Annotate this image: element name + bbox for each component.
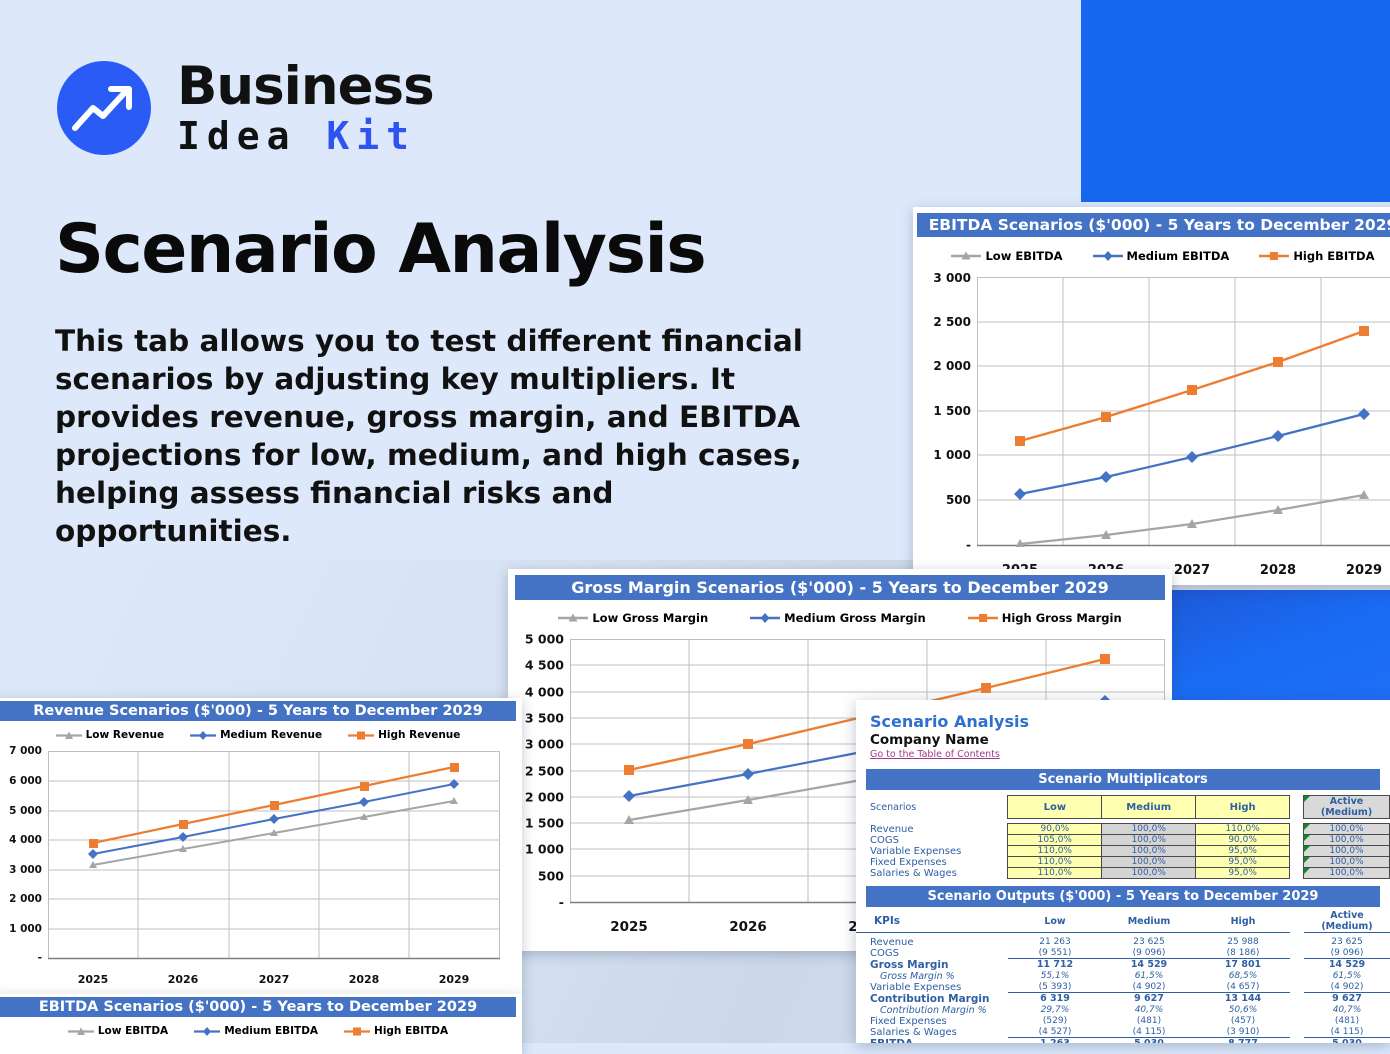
page-title: Scenario Analysis (55, 210, 705, 289)
legend-item-medium: Medium Gross Margin (750, 611, 926, 625)
table-row: Gross Margin 11 712 14 529 17 801 14 529 (856, 959, 1390, 971)
cell-medium[interactable]: 100,0% (1102, 868, 1196, 879)
cell-low[interactable]: 110,0% (1008, 846, 1102, 857)
cell-low: 29,7% (1008, 1005, 1102, 1016)
chart-title-revenue: Revenue Scenarios ($'000) - 5 Years to D… (0, 701, 516, 721)
row-label: Salaries & Wages (856, 1027, 1008, 1038)
cell-high: (4 657) (1196, 982, 1290, 993)
legend-label-high: High EBITDA (1293, 249, 1374, 263)
legend-label-low: Low Gross Margin (592, 611, 708, 625)
spacer-cell (1290, 796, 1304, 819)
cell-high[interactable]: 90,0% (1196, 835, 1290, 846)
row-label: Gross Margin % (856, 971, 1008, 982)
legend-label-medium: Medium Gross Margin (784, 611, 926, 625)
cell-medium: (481) (1102, 1016, 1196, 1027)
multipliers-row-header: Scenarios (856, 796, 1008, 819)
table-row[interactable]: COGS 105,0% 100,0% 90,0% 100,0% (856, 835, 1390, 846)
legend-label-high: High Gross Margin (1002, 611, 1122, 625)
legend-label-high: High Revenue (378, 729, 460, 741)
row-label: COGS (856, 948, 1008, 959)
chart-plot-revenue: -1 0002 000 3 0004 0005 000 6 0007 000 (0, 751, 522, 981)
spacer-cell (1290, 868, 1304, 879)
legend-item-high: High EBITDA (1259, 249, 1374, 263)
row-label: Variable Expenses (856, 846, 1008, 857)
outputs-col-active: Active (Medium) (1304, 910, 1390, 933)
cell-high: 17 801 (1196, 959, 1290, 971)
row-label: Contribution Margin (856, 993, 1008, 1005)
sheet-header: Scenario Analysis Company Name Go to the… (856, 700, 1390, 760)
legend-item-low: Low Revenue (56, 729, 165, 741)
cell-high[interactable]: 95,0% (1196, 857, 1290, 868)
table-row-header: KPIs Low Medium High Active (Medium) (856, 910, 1390, 933)
cell-active: 40,7% (1304, 1005, 1390, 1016)
multipliers-col-high: High (1196, 796, 1290, 819)
table-row[interactable]: Variable Expenses 110,0% 100,0% 95,0% 10… (856, 846, 1390, 857)
spacer-cell (1290, 1005, 1304, 1016)
cell-medium: 14 529 (1102, 959, 1196, 971)
legend-label-medium: Medium EBITDA (1127, 249, 1230, 263)
legend-item-high: High EBITDA (344, 1025, 448, 1037)
multipliers-col-low: Low (1008, 796, 1102, 819)
outputs-col-medium: Medium (1102, 910, 1196, 933)
legend-item-high: High Gross Margin (968, 611, 1122, 625)
cell-active: 100,0% (1304, 824, 1390, 835)
cell-medium[interactable]: 100,0% (1102, 835, 1196, 846)
cell-high: (8 186) (1196, 948, 1290, 959)
legend-item-low: Low EBITDA (68, 1025, 168, 1037)
table-row: COGS (9 551) (9 096) (8 186) (9 096) (856, 948, 1390, 959)
cell-high: 50,6% (1196, 1005, 1290, 1016)
cell-high: (457) (1196, 1016, 1290, 1027)
growth-arrow-icon (57, 61, 151, 155)
table-row: EBITDA 1 263 5 030 8 777 5 030 (856, 1038, 1390, 1044)
outputs-col-high: High (1196, 910, 1290, 933)
sheet-heading: Scenario Analysis (870, 712, 1390, 731)
cell-high[interactable]: 110,0% (1196, 824, 1290, 835)
cell-low: (4 527) (1008, 1027, 1102, 1038)
spacer-cell (1290, 1027, 1304, 1038)
legend-label-low: Low EBITDA (985, 249, 1062, 263)
cell-active: 14 529 (1304, 959, 1390, 971)
table-row: Variable Expenses (5 393) (4 902) (4 657… (856, 982, 1390, 993)
cell-low: 11 712 (1008, 959, 1102, 971)
chart-legend-ebitda-top: Low EBITDA Medium EBITDA High EBITDA (913, 249, 1390, 263)
brand-idea-text: Idea (177, 114, 326, 158)
multipliers-col-medium: Medium (1102, 796, 1196, 819)
outputs-col-low: Low (1008, 910, 1102, 933)
spacer-cell (1290, 982, 1304, 993)
legend-item-low: Low Gross Margin (558, 611, 708, 625)
row-label: Gross Margin (856, 959, 1008, 971)
legend-label-low: Low Revenue (86, 729, 165, 741)
cell-high[interactable]: 95,0% (1196, 846, 1290, 857)
spacer-cell (1290, 971, 1304, 982)
legend-item-medium: Medium Revenue (190, 729, 322, 741)
decorative-blue-block-middle (1168, 590, 1390, 700)
cell-high: 68,5% (1196, 971, 1290, 982)
brand-name-secondary: Idea Kit (177, 117, 434, 155)
cell-active: 100,0% (1304, 835, 1390, 846)
spacer-cell (1290, 835, 1304, 846)
y-axis-labels-ebitda-top: -5001 000 1 5002 0002 500 3 000 (913, 277, 971, 545)
cell-high[interactable]: 95,0% (1196, 868, 1290, 879)
table-row[interactable]: Fixed Expenses 110,0% 100,0% 95,0% 100,0… (856, 857, 1390, 868)
brand-kit-text: Kit (326, 114, 416, 158)
cell-medium: (4 902) (1102, 982, 1196, 993)
cell-active: (4 115) (1304, 1027, 1390, 1038)
legend-item-high: High Revenue (348, 729, 460, 741)
band-scenario-multiplicators: Scenario Multiplicators (866, 769, 1380, 790)
row-label: Variable Expenses (856, 982, 1008, 993)
outputs-row-header: KPIs (856, 910, 1008, 933)
cell-medium: 61,5% (1102, 971, 1196, 982)
table-row: Fixed Expenses (529) (481) (457) (481) (856, 1016, 1390, 1027)
cell-medium: 23 625 (1102, 937, 1196, 948)
legend-label-low: Low EBITDA (98, 1025, 168, 1037)
brand-name-primary: Business (177, 60, 434, 113)
cell-active: 5 030 (1304, 1038, 1390, 1044)
row-label: Fixed Expenses (856, 857, 1008, 868)
spacer-cell (1290, 846, 1304, 857)
row-label: Fixed Expenses (856, 1016, 1008, 1027)
spacer-cell (1290, 824, 1304, 835)
chart-panel-ebitda-top[interactable]: EBITDA Scenarios ($'000) - 5 Years to De… (913, 207, 1390, 585)
chart-title-ebitda-bottom: EBITDA Scenarios ($'000) - 5 Years to De… (0, 997, 516, 1017)
row-label: COGS (856, 835, 1008, 846)
cell-low: (9 551) (1008, 948, 1102, 959)
page-description: This tab allows you to test different fi… (55, 322, 855, 550)
table-row[interactable]: Revenue 90,0% 100,0% 110,0% 100,0% (856, 824, 1390, 835)
chart-legend-gross-margin: Low Gross Margin Medium Gross Margin Hig… (508, 611, 1172, 625)
legend-item-medium: Medium EBITDA (194, 1025, 318, 1037)
sheet-company-name: Company Name (870, 732, 1390, 748)
cell-low[interactable]: 110,0% (1008, 868, 1102, 879)
cell-low: (529) (1008, 1016, 1102, 1027)
cell-low: (5 393) (1008, 982, 1102, 993)
legend-label-high: High EBITDA (374, 1025, 448, 1037)
cell-active: (481) (1304, 1016, 1390, 1027)
spacer-cell (1290, 959, 1304, 971)
table-row: Contribution Margin % 29,7% 40,7% 50,6% … (856, 1005, 1390, 1016)
chart-legend-ebitda-bottom: Low EBITDA Medium EBITDA High EBITDA (0, 1025, 522, 1037)
row-label: Revenue (856, 937, 1008, 948)
decorative-blue-block-top (1081, 0, 1390, 202)
legend-item-low: Low EBITDA (951, 249, 1062, 263)
cell-medium[interactable]: 100,0% (1102, 857, 1196, 868)
spacer-cell (1290, 948, 1304, 959)
table-row[interactable]: Salaries & Wages 110,0% 100,0% 95,0% 100… (856, 868, 1390, 879)
legend-label-medium: Medium Revenue (220, 729, 322, 741)
cell-low[interactable]: 105,0% (1008, 835, 1102, 846)
table-row-header: Scenarios Low Medium High Active (Medium… (856, 796, 1390, 819)
cell-low: 6 319 (1008, 993, 1102, 1005)
cell-high: 13 144 (1196, 993, 1290, 1005)
legend-label-medium: Medium EBITDA (224, 1025, 318, 1037)
table-row: Contribution Margin 6 319 9 627 13 144 9… (856, 993, 1390, 1005)
cell-high: (3 910) (1196, 1027, 1290, 1038)
cell-low: 1 263 (1008, 1038, 1102, 1044)
spacer-cell (1290, 937, 1304, 948)
legend-item-medium: Medium EBITDA (1093, 249, 1230, 263)
chart-legend-revenue: Low Revenue Medium Revenue High Revenue (0, 729, 522, 741)
chart-title-gross-margin: Gross Margin Scenarios ($'000) - 5 Years… (515, 575, 1165, 600)
cell-medium[interactable]: 100,0% (1102, 824, 1196, 835)
spacer-cell (1290, 1016, 1304, 1027)
cell-active: 100,0% (1304, 857, 1390, 868)
row-label: Salaries & Wages (856, 868, 1008, 879)
table-row: Gross Margin % 55,1% 61,5% 68,5% 61,5% (856, 971, 1390, 982)
chart-panel-ebitda-bottom[interactable]: EBITDA Scenarios ($'000) - 5 Years to De… (0, 994, 522, 1054)
spacer-cell (1290, 857, 1304, 868)
row-label: Revenue (856, 824, 1008, 835)
cell-active: (4 902) (1304, 982, 1390, 993)
scenario-analysis-sheet[interactable]: Scenario Analysis Company Name Go to the… (856, 700, 1390, 1043)
cell-medium: (4 115) (1102, 1027, 1196, 1038)
spacer-cell (1290, 910, 1304, 933)
cell-medium: (9 096) (1102, 948, 1196, 959)
spacer-cell (1290, 993, 1304, 1005)
cell-active: 100,0% (1304, 846, 1390, 857)
chart-plot-ebitda-top: -5001 000 1 5002 0002 500 3 000 (913, 277, 1390, 567)
chart-panel-revenue[interactable]: Revenue Scenarios ($'000) - 5 Years to D… (0, 698, 522, 994)
row-label: Contribution Margin % (856, 1005, 1008, 1016)
cell-medium[interactable]: 100,0% (1102, 846, 1196, 857)
cell-medium: 40,7% (1102, 1005, 1196, 1016)
cell-medium: 5 030 (1102, 1038, 1196, 1044)
cell-medium: 9 627 (1102, 993, 1196, 1005)
cell-high: 25 988 (1196, 937, 1290, 948)
table-of-contents-link[interactable]: Go to the Table of Contents (870, 749, 1390, 760)
cell-active: 23 625 (1304, 937, 1390, 948)
cell-low: 21 263 (1008, 937, 1102, 948)
cell-active: 9 627 (1304, 993, 1390, 1005)
cell-active: 61,5% (1304, 971, 1390, 982)
plot-svg-ebitda-top (977, 271, 1390, 547)
brand-logo: Business Idea Kit (57, 60, 434, 155)
cell-high: 8 777 (1196, 1038, 1290, 1044)
chart-title-ebitda-top: EBITDA Scenarios ($'000) - 5 Years to De… (917, 213, 1390, 237)
cell-low[interactable]: 90,0% (1008, 824, 1102, 835)
multipliers-col-active: Active (Medium) (1304, 796, 1390, 819)
scenario-multipliers-table[interactable]: Scenarios Low Medium High Active (Medium… (856, 795, 1390, 879)
scenario-outputs-table[interactable]: KPIs Low Medium High Active (Medium) Rev… (856, 910, 1390, 1043)
table-row: Salaries & Wages (4 527) (4 115) (3 910)… (856, 1027, 1390, 1038)
band-scenario-outputs: Scenario Outputs ($'000) - 5 Years to De… (866, 886, 1380, 907)
cell-low[interactable]: 110,0% (1008, 857, 1102, 868)
cell-low: 55,1% (1008, 971, 1102, 982)
y-axis-labels-revenue: -1 0002 000 3 0004 0005 000 6 0007 000 (0, 751, 42, 958)
cell-active: 100,0% (1304, 868, 1390, 879)
plot-svg-revenue (48, 747, 500, 961)
spacer-cell (1290, 1038, 1304, 1044)
cell-active: (9 096) (1304, 948, 1390, 959)
row-label: EBITDA (856, 1038, 1008, 1044)
table-row: Revenue 21 263 23 625 25 988 23 625 (856, 937, 1390, 948)
